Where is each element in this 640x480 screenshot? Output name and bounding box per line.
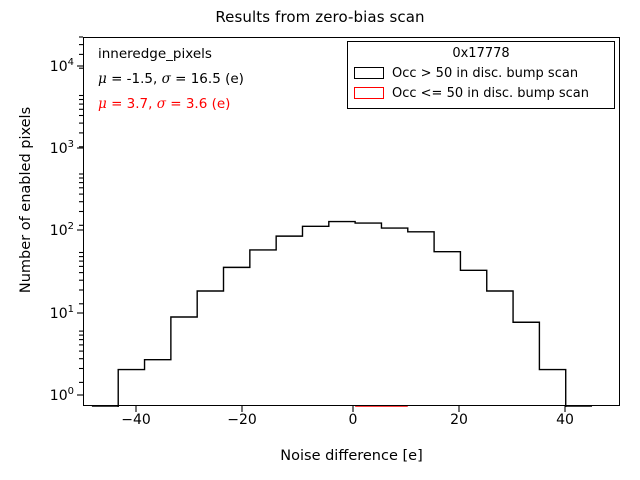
y-tick-label: 100 bbox=[14, 386, 74, 404]
sigma-symbol-black: σ bbox=[162, 71, 171, 87]
legend: 0x17778 Occ > 50 in disc. bump scan Occ … bbox=[347, 41, 615, 109]
legend-entry-black[interactable]: Occ > 50 in disc. bump scan bbox=[354, 63, 608, 83]
y-tick-label: 102 bbox=[14, 221, 74, 239]
x-tick-label: 40 bbox=[535, 412, 595, 428]
y-tick-label: 101 bbox=[14, 304, 74, 322]
annotation-dataset-name: inneredge_pixels bbox=[98, 46, 212, 62]
mu-symbol-red: μ bbox=[98, 96, 107, 112]
histogram-step-black bbox=[92, 222, 592, 407]
stats-black-mu: = -1.5, bbox=[107, 71, 162, 87]
annotation-stats-black: μ = -1.5, σ = 16.5 (e) bbox=[98, 71, 244, 87]
sigma-symbol-red: σ bbox=[157, 96, 166, 112]
x-tick-label: 0 bbox=[323, 412, 383, 428]
stats-red-sigma: = 3.6 (e) bbox=[166, 96, 231, 112]
annotation-stats-red: μ = 3.7, σ = 3.6 (e) bbox=[98, 96, 230, 112]
legend-swatch-black-icon bbox=[354, 67, 384, 79]
legend-label-black: Occ > 50 in disc. bump scan bbox=[392, 66, 578, 81]
y-tick-label: 104 bbox=[14, 57, 74, 75]
stats-black-sigma: = 16.5 (e) bbox=[171, 71, 244, 87]
x-tick-label: −40 bbox=[106, 412, 166, 428]
mu-symbol-black: μ bbox=[98, 71, 107, 87]
figure: Results from zero-bias scan Number of en… bbox=[0, 0, 640, 480]
legend-entry-red[interactable]: Occ <= 50 in disc. bump scan bbox=[354, 83, 608, 103]
legend-label-red: Occ <= 50 in disc. bump scan bbox=[392, 86, 589, 101]
x-tick-label: 20 bbox=[429, 412, 489, 428]
legend-swatch-red-icon bbox=[354, 87, 384, 99]
x-tick-label: −20 bbox=[212, 412, 272, 428]
y-tick-label: 103 bbox=[14, 139, 74, 157]
legend-title: 0x17778 bbox=[354, 46, 608, 61]
stats-red-mu: = 3.7, bbox=[107, 96, 157, 112]
